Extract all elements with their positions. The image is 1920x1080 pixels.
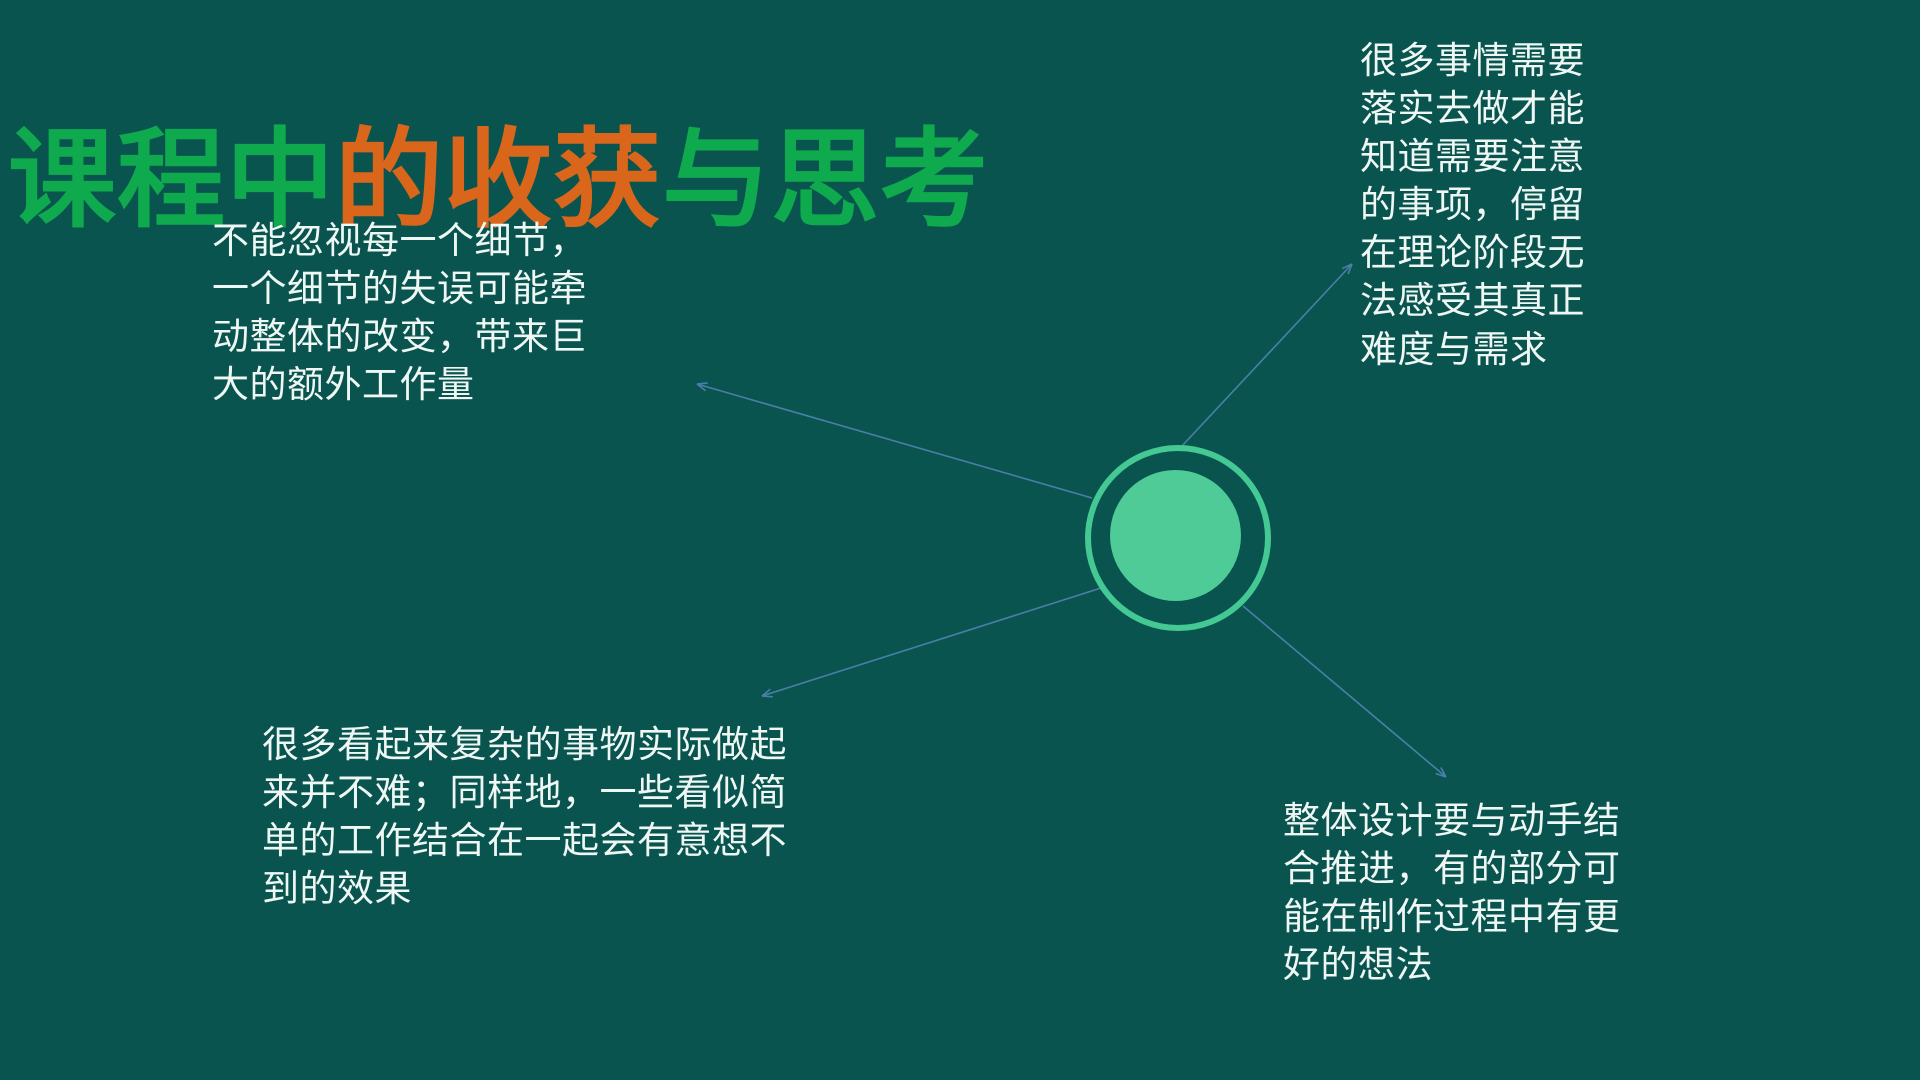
connector-to-top-left: [697, 384, 1092, 498]
hub-inner-circle: [1110, 470, 1241, 601]
slide-canvas: 课程中的收获与思考 不能忽视每一个细节， 一个细节的失误可能牵 动整体的改变，带…: [0, 0, 1920, 1080]
note-bottom-right: 整体设计要与动手结 合推进，有的部分可 能在制作过程中有更 好的想法: [1283, 798, 1621, 990]
connector-to-top-right: [1182, 264, 1352, 446]
note-top-right: 很多事情需要 落实去做才能 知道需要注意 的事项，停留 在理论阶段无 法感受其真…: [1360, 38, 1585, 375]
center-hub-node: [1085, 445, 1265, 625]
title-segment-3: 与思考: [662, 119, 989, 240]
note-bottom-left: 很多看起来复杂的事物实际做起 来并不难；同样地，一些看似简 单的工作结合在一起会…: [262, 722, 787, 914]
connector-to-bottom-right: [1243, 606, 1446, 777]
connector-to-bottom-left: [762, 588, 1101, 696]
note-top-left: 不能忽视每一个细节， 一个细节的失误可能牵 动整体的改变，带来巨 大的额外工作量: [212, 218, 587, 410]
